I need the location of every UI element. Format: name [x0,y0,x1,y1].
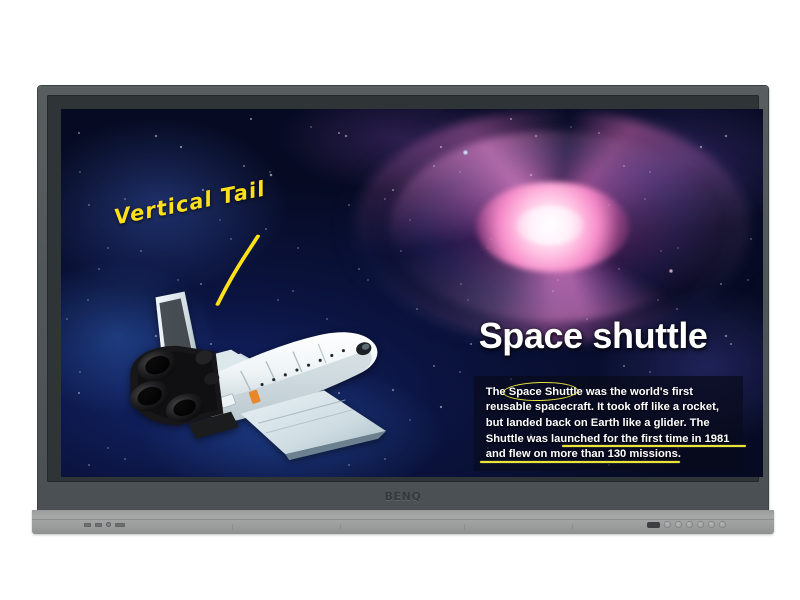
usb-port-icon[interactable] [84,523,91,527]
bezel-inner-frame: Vertical Tail Space shuttle The Space Sh… [47,95,759,482]
housing-seam-mark [340,524,341,530]
slide-text-panel: The Space Shuttle was the world's first … [474,376,744,471]
slide-title: Space shuttle [479,315,708,357]
housing-seam-mark [464,524,465,530]
display-bezel: Vertical Tail Space shuttle The Space Sh… [38,86,768,510]
hdmi-port-icon[interactable] [115,523,125,527]
volume-down-button[interactable] [697,521,704,528]
body-line: reusable spacecraft. It took off like a … [486,400,734,416]
control-button-row[interactable] [647,521,726,528]
housing-seam [32,519,774,520]
slide-body-text: The Space Shuttle was the world's first … [486,385,734,463]
audio-jack-icon[interactable] [106,522,111,527]
brand-logo-strip: BenQ [47,482,759,510]
body-line: and flew on more than 130 missions. [486,447,734,463]
menu-button[interactable] [686,521,693,528]
body-line: The Space Shuttle was the world's first [486,385,734,401]
benq-interactive-display: Vertical Tail Space shuttle The Space Sh… [38,86,768,534]
display-screen[interactable]: Vertical Tail Space shuttle The Space Sh… [61,109,763,477]
home-button[interactable] [719,521,726,528]
benq-logo: BenQ [385,490,422,503]
io-port-cluster[interactable] [84,522,125,527]
power-button[interactable] [664,521,671,528]
input-button[interactable] [675,521,682,528]
volume-up-button[interactable] [708,521,715,528]
vertical-tail-annotation: Vertical Tail [103,186,440,311]
body-line: Shuttle was launched for the first time … [486,432,734,448]
body-line: but landed back on Earth like a glider. … [486,416,734,432]
ir-sensor-icon [647,522,660,528]
housing-seam-mark [572,524,573,530]
housing-seam-mark [232,524,233,530]
display-base-housing [32,510,774,534]
usb-port-icon[interactable] [95,523,102,527]
